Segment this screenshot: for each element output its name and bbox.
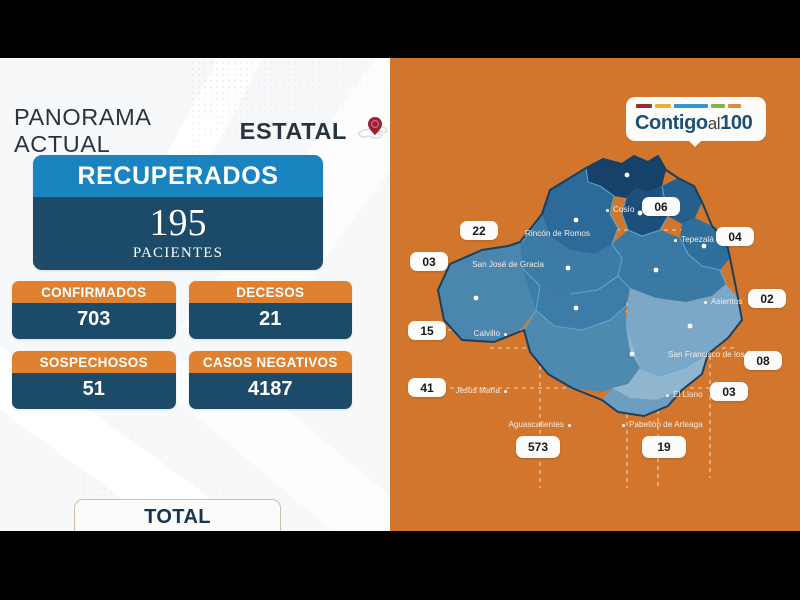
leader-dot bbox=[504, 390, 507, 393]
stats-grid: CONFIRMADOS 703 DECESOS 21 SOSPECHOSOS 5… bbox=[12, 281, 352, 421]
stat-card-decesos: DECESOS 21 bbox=[189, 281, 353, 339]
recovered-label: RECUPERADOS bbox=[33, 155, 323, 197]
leader-dot bbox=[606, 209, 609, 212]
map-value-cosio: 06 bbox=[642, 197, 680, 216]
map-value-aguascalientes: 573 bbox=[516, 436, 560, 458]
stat-value: 51 bbox=[12, 373, 176, 409]
page-title-bold: ESTATAL bbox=[240, 118, 347, 145]
leader-dot bbox=[622, 424, 625, 427]
map-label-calvillo: Calvillo bbox=[452, 329, 500, 339]
recovered-body: 195 PACIENTES bbox=[33, 197, 323, 270]
page-title: PANORAMA ACTUAL ESTATAL bbox=[14, 104, 390, 158]
map-value-san-jose-de-gracia: 03 bbox=[410, 252, 448, 271]
leader-dot bbox=[504, 333, 507, 336]
stat-label: CASOS NEGATIVOS bbox=[189, 351, 353, 373]
map-label-pabellon-de-arteaga: Pabellón de Arteaga bbox=[629, 420, 703, 430]
map-value-el-llano: 03 bbox=[710, 382, 748, 401]
map-value-calvillo: 15 bbox=[408, 321, 446, 340]
stat-card-confirmados: CONFIRMADOS 703 bbox=[12, 281, 176, 339]
recovered-card: RECUPERADOS 195 PACIENTES bbox=[33, 155, 323, 270]
aguascalientes-map: Cosío 06 Rincón de Romos 22 Tepezalá 04 … bbox=[390, 58, 800, 531]
stat-label: DECESOS bbox=[189, 281, 353, 303]
recovered-unit: PACIENTES bbox=[133, 245, 223, 262]
leader-dot bbox=[674, 239, 677, 242]
leader-dot bbox=[666, 394, 669, 397]
stat-label: CONFIRMADOS bbox=[12, 281, 176, 303]
map-value-tepezala: 04 bbox=[716, 227, 754, 246]
recovered-value: 195 bbox=[150, 205, 207, 241]
map-pin-icon bbox=[356, 114, 390, 148]
infographic-content: PANORAMA ACTUAL ESTATAL RECUPERADOS 195 … bbox=[0, 58, 800, 531]
map-municipality-shapes bbox=[438, 156, 742, 416]
stats-row-1: CONFIRMADOS 703 DECESOS 21 bbox=[12, 281, 352, 339]
stats-row-2: SOSPECHOSOS 51 CASOS NEGATIVOS 4187 bbox=[12, 351, 352, 409]
map-label-jesus-maria: Jesús María bbox=[440, 386, 500, 396]
map-label-san-francisco-de-los-romo: San Francisco de los Romo bbox=[668, 350, 738, 360]
map-value-asientos: 02 bbox=[748, 289, 786, 308]
map-label-aguascalientes: Aguascalientes bbox=[496, 420, 564, 430]
map-panel: Contigoal100 bbox=[390, 58, 800, 531]
stat-card-casos-negativos: CASOS NEGATIVOS 4187 bbox=[189, 351, 353, 409]
page-title-regular: PANORAMA ACTUAL bbox=[14, 104, 234, 158]
stat-value: 21 bbox=[189, 303, 353, 339]
stat-card-sospechosos: SOSPECHOSOS 51 bbox=[12, 351, 176, 409]
screenshot-stage: PANORAMA ACTUAL ESTATAL RECUPERADOS 195 … bbox=[0, 0, 800, 600]
stats-panel: PANORAMA ACTUAL ESTATAL RECUPERADOS 195 … bbox=[0, 58, 390, 531]
map-value-rincon-de-romos: 22 bbox=[460, 221, 498, 240]
map-value-jesus-maria: 41 bbox=[408, 378, 446, 397]
map-svg bbox=[390, 58, 800, 531]
leader-dot bbox=[568, 424, 571, 427]
stat-value: 4187 bbox=[189, 373, 353, 409]
map-value-san-francisco-de-los-romo: 08 bbox=[744, 351, 782, 370]
map-label-rincon-de-romos: Rincón de Romos bbox=[504, 229, 590, 239]
stat-value: 703 bbox=[12, 303, 176, 339]
map-value-pabellon-de-arteaga: 19 bbox=[642, 436, 686, 458]
map-label-cosio: Cosío bbox=[613, 205, 634, 215]
map-label-san-jose-de-gracia: San José de Gracia bbox=[454, 260, 544, 270]
total-value: 4941 CASOS bbox=[126, 528, 230, 531]
map-label-tepezala: Tepezalá bbox=[681, 235, 714, 245]
stat-label: SOSPECHOSOS bbox=[12, 351, 176, 373]
total-label: TOTAL bbox=[144, 507, 211, 528]
leader-dot bbox=[704, 301, 707, 304]
total-card: TOTAL 4941 CASOS bbox=[74, 499, 281, 531]
map-label-el-llano: El Llano bbox=[673, 390, 703, 400]
map-label-asientos: Asientos bbox=[711, 297, 742, 307]
